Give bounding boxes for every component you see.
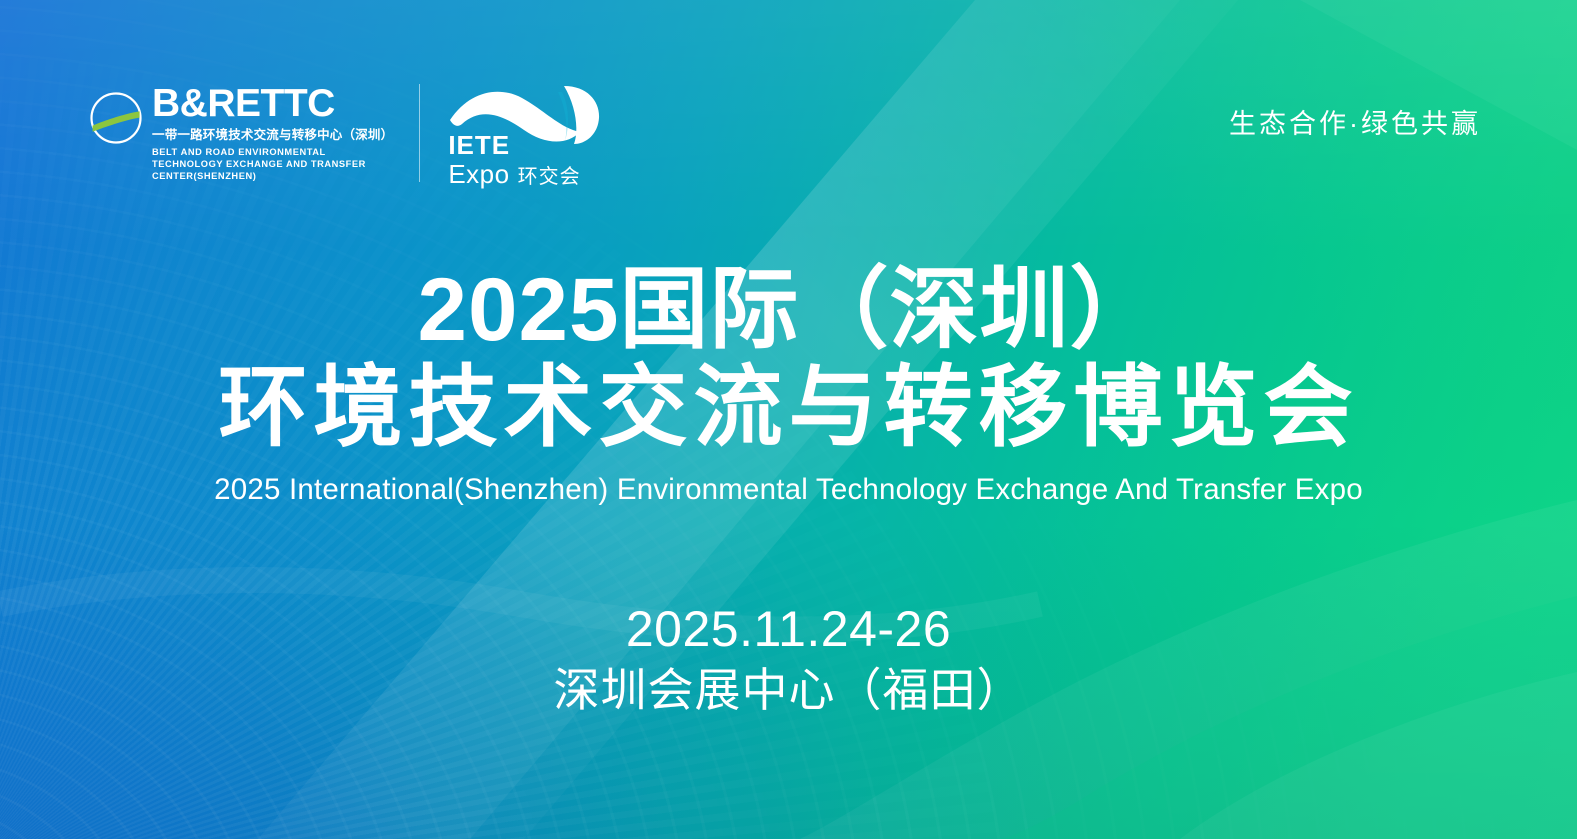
iete-expo-word: Expo [448, 161, 509, 187]
iete-text-block: IETE Expo 环交会 [448, 132, 580, 187]
page-title-line-2: 环境技术交流与转移博览会 [0, 360, 1577, 454]
brettc-wordmark: B&RETTC [152, 84, 393, 123]
globe-sash-icon [88, 90, 144, 146]
event-slogan: 生态合作·绿色共赢 [1229, 102, 1481, 141]
brettc-name-en: BELT AND ROAD ENVIRONMENTAL TECHNOLOGY E… [152, 146, 367, 183]
page-subtitle-en: 2025 International(Shenzhen) Environment… [0, 473, 1577, 507]
logo-brettc[interactable]: B&RETTC 一带一路环境技术交流与转移中心（深圳） BELT AND ROA… [88, 84, 420, 182]
iete-subline: Expo 环交会 [448, 161, 580, 187]
banner-header: B&RETTC 一带一路环境技术交流与转移中心（深圳） BELT AND ROA… [88, 84, 1481, 194]
event-meta-block: 2025.11.24-26 深圳会展中心（福田） [0, 601, 1577, 718]
title-block: 2025国际（深圳） 环境技术交流与转移博览会 2025 Internation… [0, 262, 1577, 507]
logo-iete-expo[interactable]: IETE Expo 环交会 [448, 84, 612, 188]
event-date: 2025.11.24-26 [0, 601, 1577, 657]
brettc-text-block: B&RETTC 一带一路环境技术交流与转移中心（深圳） BELT AND ROA… [152, 84, 393, 182]
page-title-line-1: 2025国际（深圳） [0, 262, 1577, 356]
iete-acronym: IETE [448, 132, 580, 158]
iete-name-cn: 环交会 [518, 167, 581, 187]
brettc-name-cn: 一带一路环境技术交流与转移中心（深圳） [152, 128, 393, 144]
event-banner: B&RETTC 一带一路环境技术交流与转移中心（深圳） BELT AND ROA… [0, 0, 1577, 839]
logo-group: B&RETTC 一带一路环境技术交流与转移中心（深圳） BELT AND ROA… [88, 84, 612, 188]
banner-content: B&RETTC 一带一路环境技术交流与转移中心（深圳） BELT AND ROA… [0, 0, 1577, 839]
event-venue: 深圳会展中心（福田） [0, 663, 1577, 718]
